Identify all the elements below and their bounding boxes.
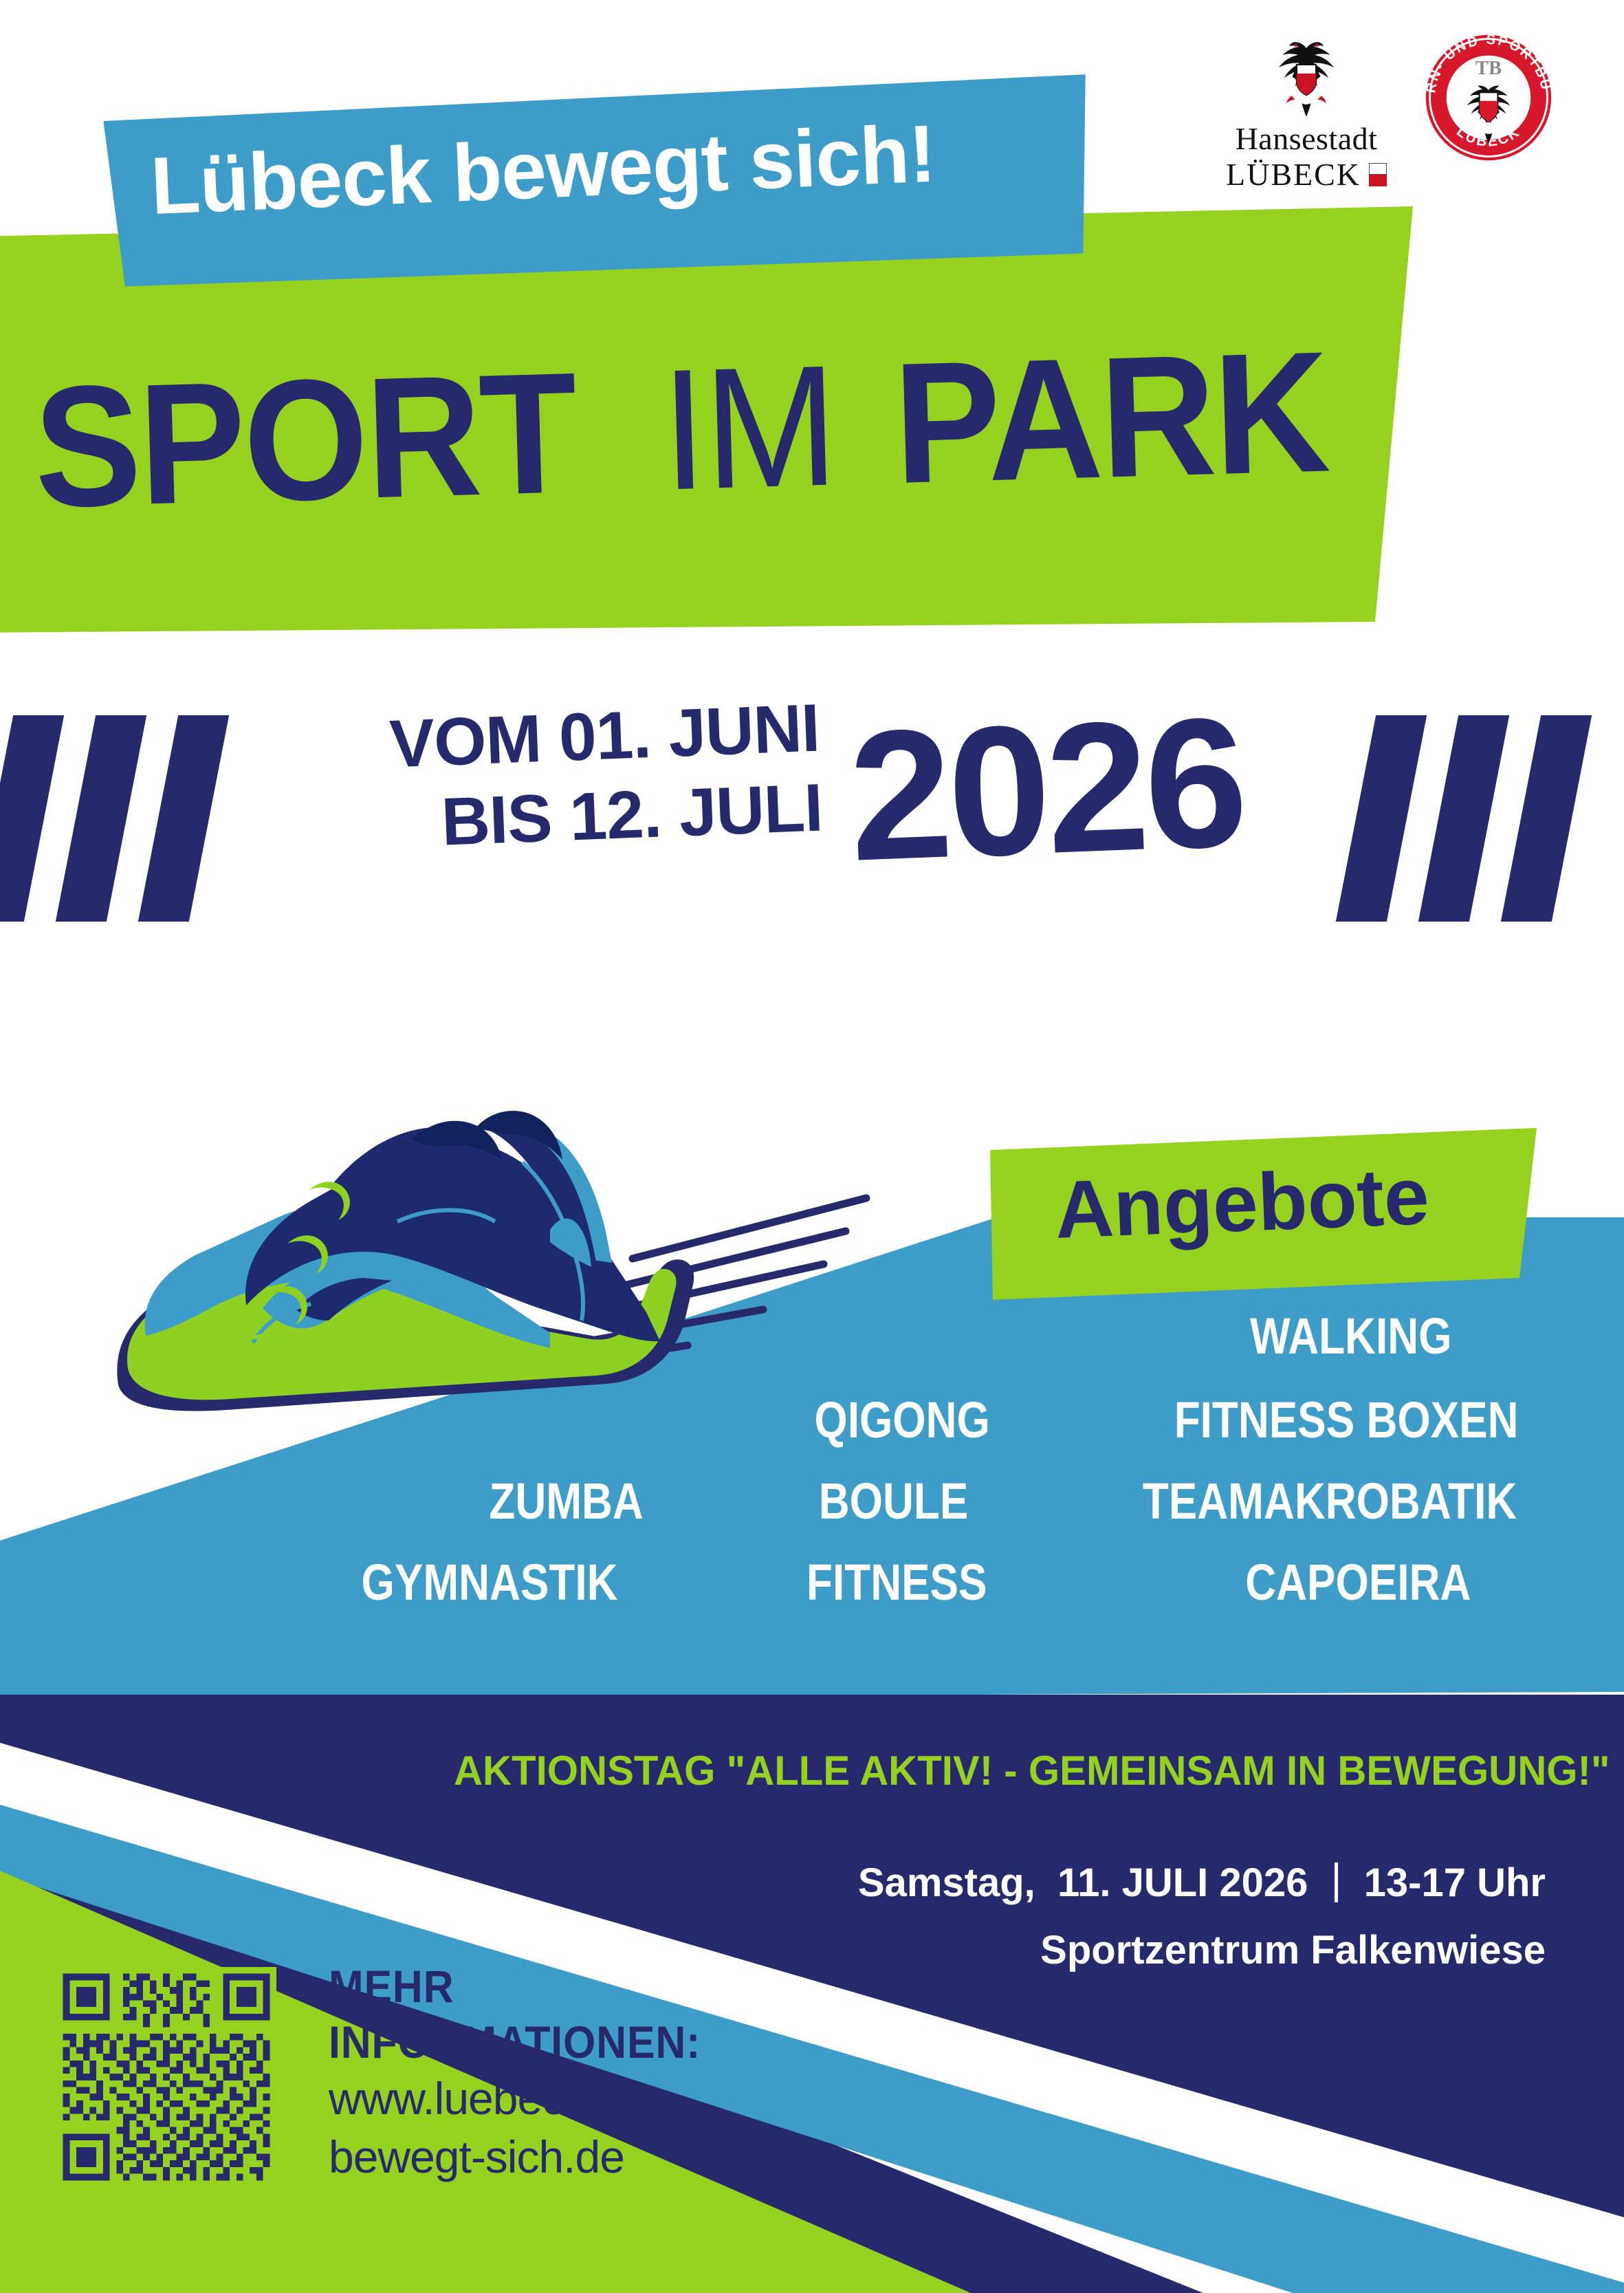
offer-item-teamakrobatik: TEAMAKROBATIK	[1107, 1472, 1552, 1530]
offer-item-qigong: QIGONG	[798, 1391, 1007, 1449]
logo-group: Hansestadt LÜBECK TURN- UND SPORTBUND	[1169, 38, 1581, 196]
offer-item-zumba: ZUMBA	[474, 1472, 658, 1530]
poster-canvas: Hansestadt LÜBECK TURN- UND SPORTBUND	[0, 0, 1624, 2293]
running-shoe-icon	[69, 1025, 880, 1465]
date-range: VOM 01. JUNI BIS 12. JULI	[254, 688, 824, 869]
website-url-line2[interactable]: bewegt-sich.de	[329, 2128, 851, 2186]
offers-badge: Angebote	[990, 1128, 1540, 1300]
offer-item-gymnastik: GYMNASTIK	[337, 1553, 642, 1611]
event-date: 11. JULI 2026	[1057, 1860, 1308, 1905]
chevron-stripe-right-2	[1418, 715, 1509, 922]
luebeck-label: LÜBECK	[1226, 156, 1361, 193]
event-datetime: Samstag, 11. JULI 2026 13-17 Uhr	[0, 1860, 1546, 1906]
event-day: Samstag,	[858, 1860, 1035, 1905]
tsb-luebeck-seal-icon: TURN- UND SPORTBUND LÜBECK TB	[1423, 32, 1554, 163]
chevron-stripe-right-3	[1501, 715, 1592, 922]
tagline-text: Lübeck bewegt sich!	[149, 107, 937, 233]
title-word-park: PARK	[892, 330, 1330, 506]
chevron-stripe-left-1	[0, 715, 64, 922]
offer-item-capoeira: CAPOEIRA	[1224, 1553, 1493, 1611]
separator-bar	[1335, 1862, 1338, 1902]
more-info-line2: INFORMATIONEN:	[329, 2014, 851, 2070]
website-url-line1[interactable]: www.luebeck-	[329, 2069, 851, 2127]
luebeck-flag-icon	[1369, 163, 1387, 186]
chevron-stripe-left-2	[56, 715, 146, 922]
date-band: VOM 01. JUNI BIS 12. JULI 2026	[0, 715, 1624, 922]
hansestadt-luebeck-logo: Hansestadt LÜBECK	[1217, 38, 1396, 193]
offer-item-fitness-boxen: FITNESS BOXEN	[1141, 1391, 1551, 1449]
double-eagle-crest-icon	[1262, 38, 1351, 120]
offer-item-walking: WALKING	[1231, 1307, 1471, 1365]
offer-item-boule: BOULE	[804, 1472, 983, 1530]
chevron-stripe-left-3	[138, 715, 229, 922]
qr-code-icon[interactable]	[56, 1967, 276, 2187]
hansestadt-label: Hansestadt	[1217, 123, 1396, 155]
event-info-block: AKTIONSTAG "ALLE AKTIV! - GEMEINSAM IN B…	[0, 1695, 1624, 2293]
title-word-im: IM	[659, 344, 837, 512]
event-time: 13-17 Uhr	[1364, 1860, 1546, 1905]
event-headline: AKTIONSTAG "ALLE AKTIV! - GEMEINSAM IN B…	[454, 1747, 1624, 1794]
page-title: SPORT IM PARK	[32, 329, 1377, 530]
offer-item-fitness: FITNESS	[789, 1553, 1004, 1611]
year-label: 2026	[846, 675, 1247, 903]
more-information: MEHR INFORMATIONEN: www.luebeck- bewegt-…	[329, 1959, 851, 2186]
tsb-monogram: TB	[1475, 58, 1502, 79]
title-word-sport: SPORT	[32, 351, 578, 529]
more-info-line1: MEHR	[329, 1959, 851, 2014]
offers-badge-label: Angebote	[1053, 1149, 1431, 1257]
chevron-stripe-right-1	[1336, 715, 1427, 922]
